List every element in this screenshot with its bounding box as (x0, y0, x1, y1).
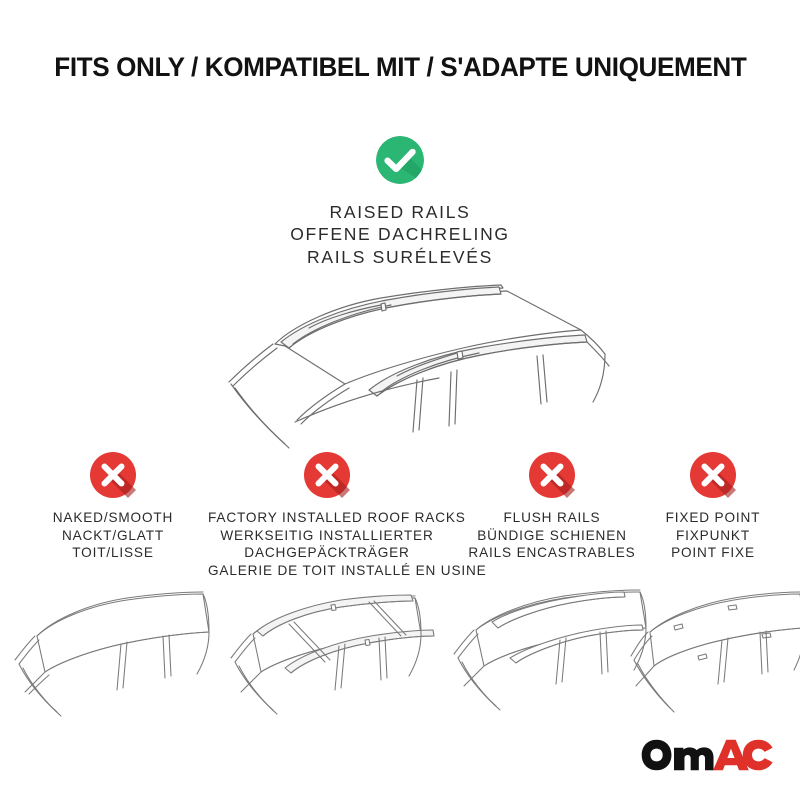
omac-logo (640, 738, 774, 772)
rejected-label-en: FIXED POINT (630, 509, 796, 527)
x-circle-icon (90, 452, 136, 498)
rejected-label-de-2: DACHGEPÄCKTRÄGER (208, 544, 446, 562)
rejected-label-fr: TOIT/LISSE (8, 544, 218, 562)
x-circle-icon (529, 452, 575, 498)
rejected-label-de-1: WERKSEITIG INSTALLIERTER (208, 527, 446, 545)
rejected-item-factory-roof-rack: FACTORY INSTALLED ROOF RACKS WERKSEITIG … (208, 452, 446, 724)
x-circle-icon (690, 452, 736, 498)
raised-rails-illustration (185, 272, 635, 457)
rejected-label-de: NACKT/GLATT (8, 527, 218, 545)
fixed-point-illustration (630, 578, 796, 718)
title-bar: FITS ONLY / KOMPATIBEL MIT / S'ADAPTE UN… (0, 52, 800, 83)
approved-labels: RAISED RAILS OFFENE DACHRELING RAILS SUR… (0, 201, 800, 268)
approved-section: RAISED RAILS OFFENE DACHRELING RAILS SUR… (0, 136, 800, 268)
page-title: FITS ONLY / KOMPATIBEL MIT / S'ADAPTE UN… (54, 52, 746, 83)
rejected-item-naked-smooth: NAKED/SMOOTH NACKT/GLATT TOIT/LISSE (8, 452, 218, 720)
rejected-label-en: NAKED/SMOOTH (8, 509, 218, 527)
flush-rails-illustration (448, 578, 656, 718)
x-circle-icon (304, 452, 350, 498)
naked-smooth-illustration (8, 580, 218, 720)
rejected-label-fr: POINT FIXE (630, 544, 796, 562)
approved-label-de: OFFENE DACHRELING (0, 223, 800, 245)
rejected-labels: FIXED POINT FIXPUNKT POINT FIXE (630, 509, 796, 562)
rejected-item-flush-rails: FLUSH RAILS BÜNDIGE SCHIENEN RAILS ENCAS… (448, 452, 656, 718)
rejected-label-de: BÜNDIGE SCHIENEN (448, 527, 656, 545)
factory-roof-rack-illustration (208, 584, 446, 724)
check-circle-icon (376, 136, 424, 184)
rejected-label-fr: GALERIE DE TOIT INSTALLÉ EN USINE (208, 562, 446, 580)
rejected-labels: FACTORY INSTALLED ROOF RACKS WERKSEITIG … (208, 509, 446, 580)
approved-label-fr: RAILS SURÉLEVÉS (0, 246, 800, 268)
rejected-label-en: FACTORY INSTALLED ROOF RACKS (208, 509, 446, 527)
rejected-labels: FLUSH RAILS BÜNDIGE SCHIENEN RAILS ENCAS… (448, 509, 656, 562)
rejected-label-fr: RAILS ENCASTRABLES (448, 544, 656, 562)
rejected-label-de: FIXPUNKT (630, 527, 796, 545)
rejected-item-fixed-point: FIXED POINT FIXPUNKT POINT FIXE (630, 452, 796, 718)
approved-label-en: RAISED RAILS (0, 201, 800, 223)
rejected-label-en: FLUSH RAILS (448, 509, 656, 527)
rejected-labels: NAKED/SMOOTH NACKT/GLATT TOIT/LISSE (8, 509, 218, 562)
